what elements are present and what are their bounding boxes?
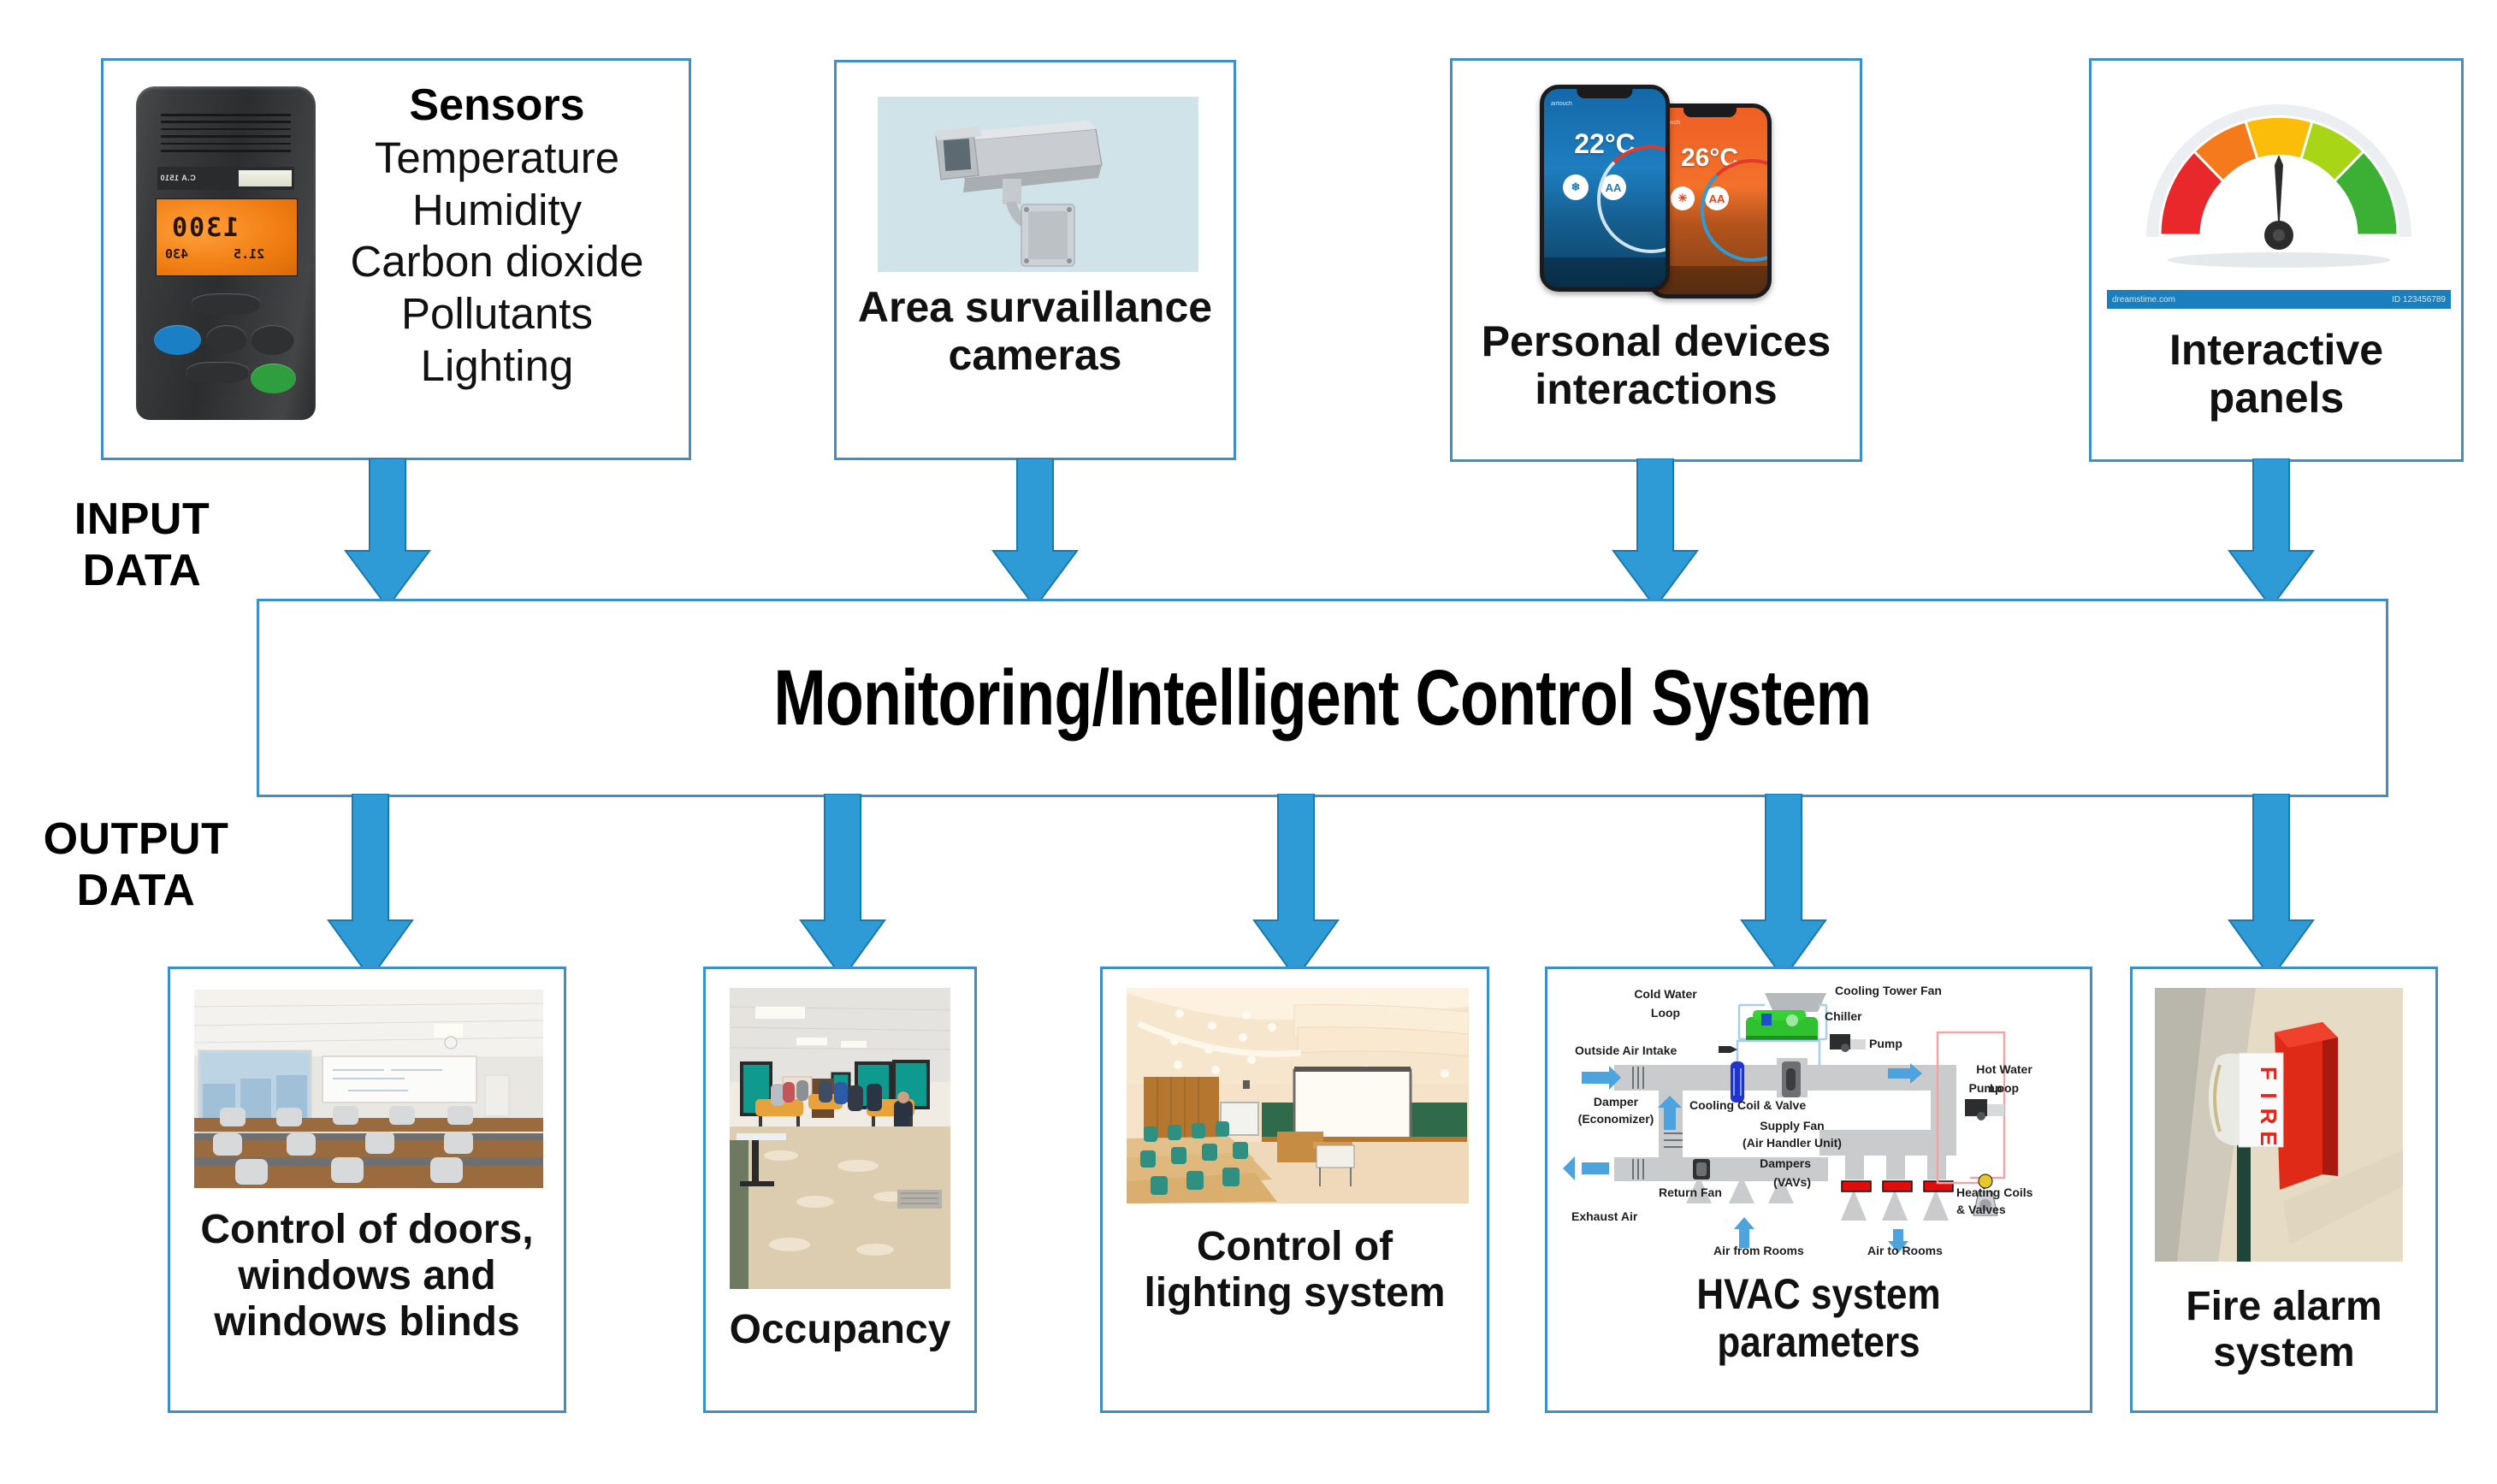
- output-data-label-line1: OUTPUT: [21, 814, 251, 866]
- classroom-windows-image: [194, 990, 543, 1188]
- lighting-caption-line2: lighting system: [1109, 1270, 1480, 1316]
- phone-cooling: airtouch 22°C ❄ AA: [1540, 85, 1670, 292]
- surveillance-camera-image: [878, 97, 1198, 272]
- phone-right-mode-icon: ✳: [1671, 186, 1695, 210]
- arrow-cameras-to-system: [988, 458, 1082, 609]
- device-button-right[interactable]: [251, 325, 293, 355]
- cctv-camera-icon: [878, 97, 1198, 272]
- hvac-label-heating-coils-1: Heating Coils: [1956, 1185, 2033, 1199]
- fire-letter-i: I: [2256, 1092, 2281, 1098]
- arrow-system-to-occupancy: [796, 794, 890, 980]
- hvac-label-exhaust-air: Exhaust Air: [1571, 1209, 1638, 1223]
- sensor-item-pollutants: Pollutants: [317, 288, 677, 340]
- input-card-personal-devices: airtouch 26°C ✳ AA airtouch 22°C ❄ AA Pe…: [1450, 58, 1862, 462]
- input-card-cameras: Area survaillance cameras: [834, 60, 1236, 460]
- hvac-label-damper-2: (Economizer): [1578, 1112, 1654, 1126]
- fire-caption: Fire alarm system: [2139, 1284, 2429, 1376]
- sensor-item-humidity: Humidity: [317, 185, 677, 237]
- lcd-right-value: 21.5: [234, 246, 264, 262]
- hvac-label-air-from-rooms: Air from Rooms: [1713, 1244, 1804, 1257]
- fire-letter-r: R: [2256, 1109, 2281, 1125]
- devices-caption: Personal devices interactions: [1459, 317, 1853, 413]
- arrow-system-to-lighting: [1249, 794, 1343, 980]
- device-model-label: C.A 1510: [160, 174, 196, 182]
- hvac-caption: HVAC system parameters: [1586, 1270, 2051, 1366]
- lcd-left-value: 430: [165, 246, 188, 262]
- sensors-text-block: Sensors Temperature Humidity Carbon diox…: [317, 80, 677, 392]
- sensor-item-temperature: Temperature: [317, 133, 677, 185]
- arrow-system-to-doors: [323, 794, 417, 980]
- output-data-label: OUTPUT DATA: [21, 814, 251, 917]
- hvac-label-hot-water-1: Hot Water: [1976, 1062, 2033, 1076]
- hvac-label-supply-fan-1: Supply Fan: [1760, 1119, 1824, 1132]
- hvac-system-diagram: Cold Water Loop Cooling Tower Fan Chille…: [1563, 979, 2076, 1262]
- arrow-devices-to-system: [1608, 458, 1702, 609]
- classroom-photo: [194, 990, 543, 1188]
- fire-caption-line1: Fire alarm: [2139, 1284, 2429, 1330]
- output-card-occupancy: Occupancy: [703, 967, 977, 1413]
- fire-alarm-strobe-photo: F I R E: [2155, 988, 2403, 1262]
- hvac-label-return-fan: Return Fan: [1659, 1185, 1722, 1199]
- panels-caption-line2: panels: [2098, 374, 2454, 422]
- hvac-label-cooling-tower-fan: Cooling Tower Fan: [1835, 984, 1942, 997]
- hvac-label-dampers-2: (VAVs): [1773, 1175, 1811, 1189]
- camera-caption-line1: Area survaillance: [845, 283, 1225, 331]
- input-card-panels: dreamstime.com ID 123456789 Interactive …: [2089, 58, 2464, 462]
- hvac-label-dampers-1: Dampers: [1760, 1156, 1811, 1170]
- sensor-item-carbon-dioxide: Carbon dioxide: [317, 236, 677, 288]
- hvac-label-chiller: Chiller: [1825, 1009, 1862, 1023]
- occupancy-waiting-room-image: [730, 988, 950, 1289]
- device-model-strip: C.A 1510: [157, 167, 294, 190]
- hvac-label-cooling-coil: Cooling Coil & Valve: [1689, 1098, 1806, 1112]
- device-button-center[interactable]: [206, 325, 247, 353]
- lcd-main-value: 1300: [170, 213, 239, 243]
- occupancy-caption-line1: Occupancy: [713, 1307, 967, 1353]
- device-button-hold[interactable]: [192, 293, 260, 315]
- sensor-item-lighting: Lighting: [317, 340, 677, 393]
- sensors-title: Sensors: [317, 80, 677, 131]
- doors-caption-line2: windows and: [177, 1253, 557, 1299]
- input-data-label: INPUT DATA: [39, 494, 245, 597]
- lecture-hall-image: [1127, 988, 1469, 1203]
- hvac-caption-line2: parameters: [1586, 1318, 2051, 1366]
- device-sticker: [239, 170, 291, 186]
- input-data-label-line1: INPUT: [39, 494, 245, 546]
- arrow-panels-to-system: [2224, 458, 2318, 609]
- phone-left-snowflake-icon: ❄: [1563, 174, 1589, 200]
- fire-letter-e: E: [2256, 1131, 2281, 1145]
- waiting-room-photo: [730, 988, 950, 1289]
- input-card-sensors: C.A 1510 1300 430 21.5 Sensors Temperatu…: [101, 58, 691, 460]
- occupancy-caption: Occupancy: [713, 1307, 967, 1353]
- gauge-image: [2115, 83, 2442, 280]
- smartphones-image: airtouch 26°C ✳ AA airtouch 22°C ❄ AA: [1519, 74, 1802, 307]
- output-card-doors-windows: Control of doors, windows and windows bl…: [168, 967, 566, 1413]
- camera-caption: Area survaillance cameras: [845, 283, 1225, 379]
- fire-alarm-image: F I R E: [2155, 988, 2403, 1262]
- speedometer-gauge-icon: [2115, 83, 2442, 280]
- device-lcd-screen: 1300 430 21.5: [156, 198, 298, 277]
- hvac-label-pump-right: Pump: [1969, 1081, 2003, 1095]
- device-button-power[interactable]: [251, 364, 296, 393]
- device-vents: [161, 114, 290, 154]
- hvac-label-supply-fan-2: (Air Handler Unit): [1743, 1136, 1842, 1150]
- input-data-label-line2: DATA: [39, 546, 245, 597]
- lighting-caption: Control of lighting system: [1109, 1224, 1480, 1316]
- panels-caption: Interactive panels: [2098, 326, 2454, 422]
- watermark-right-text: ID 123456789: [2392, 295, 2446, 304]
- sensor-device-image: C.A 1510 1300 430 21.5: [136, 86, 316, 420]
- devices-caption-line1: Personal devices: [1459, 317, 1853, 365]
- hvac-label-outside-air: Outside Air Intake: [1575, 1044, 1677, 1057]
- arrow-system-to-fire: [2224, 794, 2318, 980]
- device-button-bottom[interactable]: [186, 362, 250, 383]
- arrow-sensors-to-system: [340, 458, 435, 609]
- fire-caption-line2: system: [2139, 1330, 2429, 1376]
- hvac-label-cold-water-1: Cold Water: [1634, 987, 1697, 1001]
- camera-caption-line2: cameras: [845, 331, 1225, 379]
- hvac-label-cold-water-2: Loop: [1651, 1006, 1680, 1020]
- devices-caption-line2: interactions: [1459, 365, 1853, 413]
- output-data-label-line2: DATA: [21, 866, 251, 917]
- fire-letter-f: F: [2256, 1067, 2281, 1080]
- hvac-label-air-to-rooms: Air to Rooms: [1867, 1244, 1943, 1257]
- arrow-system-to-hvac: [1737, 794, 1831, 980]
- lighting-caption-line1: Control of: [1109, 1224, 1480, 1270]
- hvac-schematic: Cold Water Loop Cooling Tower Fan Chille…: [1563, 979, 2076, 1262]
- output-card-fire-alarm: F I R E Fire alarm system: [2130, 967, 2438, 1413]
- panels-caption-line1: Interactive: [2098, 326, 2454, 374]
- monitoring-control-system-box: Monitoring/Intelligent Control System: [257, 599, 2388, 797]
- lecture-hall-photo: [1127, 988, 1469, 1203]
- phone-right-dial: [1701, 159, 1772, 262]
- doors-caption-line1: Control of doors,: [177, 1207, 557, 1253]
- output-card-hvac: Cold Water Loop Cooling Tower Fan Chille…: [1545, 967, 2092, 1413]
- doors-caption-line3: windows blinds: [177, 1299, 557, 1345]
- doors-caption: Control of doors, windows and windows bl…: [177, 1207, 557, 1345]
- watermark-left-text: dreamstime.com: [2112, 295, 2175, 304]
- page-title: Monitoring/Intelligent Control System: [774, 653, 1872, 743]
- hvac-caption-line1: HVAC system: [1586, 1270, 2051, 1318]
- hvac-label-heating-coils-2: & Valves: [1956, 1203, 2006, 1216]
- device-button-blue[interactable]: [154, 325, 201, 355]
- phone-left-dial: [1597, 145, 1670, 253]
- hvac-label-pump-top: Pump: [1869, 1037, 1902, 1050]
- image-watermark-bar: dreamstime.com ID 123456789: [2107, 290, 2451, 309]
- output-card-lighting: Control of lighting system: [1100, 967, 1489, 1413]
- hvac-label-damper-1: Damper: [1594, 1095, 1639, 1109]
